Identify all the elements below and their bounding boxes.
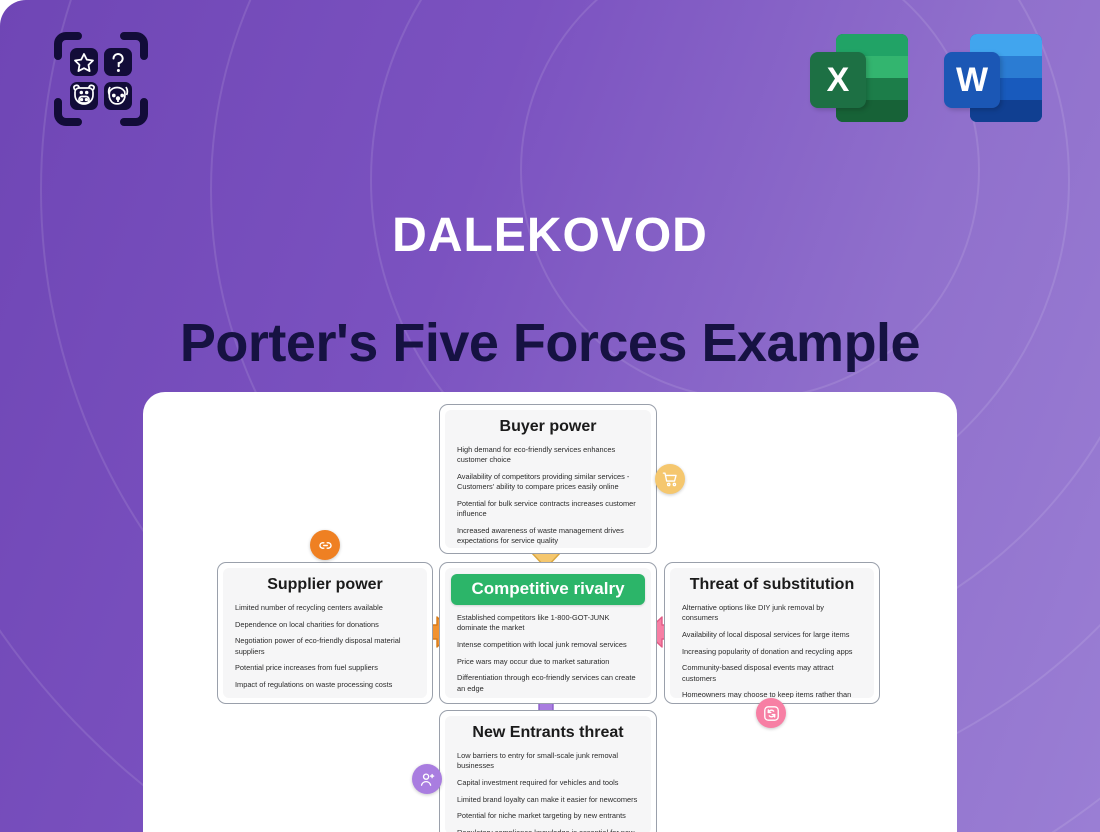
list-item: Increased awareness of waste management … bbox=[457, 526, 639, 546]
add-user-icon bbox=[412, 764, 442, 794]
excel-letter: X bbox=[810, 52, 866, 108]
export-format-icons: X W bbox=[810, 30, 1042, 122]
list-item: Potential for niche market targeting by … bbox=[457, 811, 639, 821]
excel-icon[interactable]: X bbox=[810, 30, 908, 122]
dog-icon bbox=[104, 82, 132, 110]
force-box-competitive-rivalry[interactable]: Competitive rivalry Established competit… bbox=[439, 562, 657, 704]
force-points-competitive-rivalry: Established competitors like 1-800-GOT-J… bbox=[457, 613, 639, 698]
list-item: Intense competition with local junk remo… bbox=[457, 640, 639, 650]
list-item: Potential for bulk service contracts inc… bbox=[457, 499, 639, 519]
porters-five-forces-diagram: Buyer power High demand for eco-friendly… bbox=[143, 392, 957, 832]
force-box-threat-of-substitution[interactable]: Threat of substitution Alternative optio… bbox=[664, 562, 880, 704]
force-points-threat-of-substitution: Alternative options like DIY junk remova… bbox=[682, 603, 862, 698]
list-item: Availability of local disposal services … bbox=[682, 630, 862, 640]
list-item: Alternative options like DIY junk remova… bbox=[682, 603, 862, 623]
force-points-buyer-power: High demand for eco-friendly services en… bbox=[457, 445, 639, 546]
list-item: Increasing popularity of donation and re… bbox=[682, 647, 862, 657]
refresh-icon bbox=[756, 698, 786, 728]
word-letter: W bbox=[944, 52, 1000, 108]
list-item: Limited number of recycling centers avai… bbox=[235, 603, 415, 613]
star-icon bbox=[70, 48, 98, 76]
shopping-cart-icon bbox=[655, 464, 685, 494]
content-card: Buyer power High demand for eco-friendly… bbox=[143, 392, 957, 832]
force-points-supplier-power: Limited number of recycling centers avai… bbox=[235, 603, 415, 690]
list-item: Potential price increases from fuel supp… bbox=[235, 663, 415, 673]
list-item: High demand for eco-friendly services en… bbox=[457, 445, 639, 465]
brand-name: DALEKOVOD bbox=[0, 208, 1100, 263]
word-icon[interactable]: W bbox=[944, 30, 1042, 122]
list-item: Capital investment required for vehicles… bbox=[457, 778, 639, 788]
list-item: Dependence on local charities for donati… bbox=[235, 620, 415, 630]
force-box-buyer-power[interactable]: Buyer power High demand for eco-friendly… bbox=[439, 404, 657, 554]
list-item: Established competitors like 1-800-GOT-J… bbox=[457, 613, 639, 633]
list-item: Community-based disposal events may attr… bbox=[682, 663, 862, 683]
brand-logo[interactable] bbox=[50, 28, 152, 130]
list-item: Low barriers to entry for small-scale ju… bbox=[457, 751, 639, 771]
list-item: Limited brand loyalty can make it easier… bbox=[457, 795, 639, 805]
list-item: Price wars may occur due to market satur… bbox=[457, 657, 639, 667]
link-icon bbox=[310, 530, 340, 560]
force-title-supplier-power: Supplier power bbox=[235, 576, 415, 594]
page-title: Porter's Five Forces Example bbox=[0, 312, 1100, 374]
force-title-competitive-rivalry: Competitive rivalry bbox=[451, 574, 645, 605]
force-title-new-entrants-threat: New Entrants threat bbox=[457, 724, 639, 742]
force-box-new-entrants-threat[interactable]: New Entrants threat Low barriers to entr… bbox=[439, 710, 657, 832]
force-box-supplier-power[interactable]: Supplier power Limited number of recycli… bbox=[217, 562, 433, 704]
list-item: Differentiation through eco-friendly ser… bbox=[457, 673, 639, 693]
slide-canvas: X W DALEKOVOD Porter's Five Forces Examp… bbox=[0, 0, 1100, 832]
list-item: Negotiation power of eco-friendly dispos… bbox=[235, 636, 415, 656]
force-title-buyer-power: Buyer power bbox=[457, 418, 639, 436]
list-item: Impact of regulations on waste processin… bbox=[235, 680, 415, 690]
list-item: Regulatory compliance knowledge is essen… bbox=[457, 828, 639, 832]
list-item: Availability of competitors providing si… bbox=[457, 472, 639, 492]
list-item: Homeowners may choose to keep items rath… bbox=[682, 690, 862, 698]
force-points-new-entrants-threat: Low barriers to entry for small-scale ju… bbox=[457, 751, 639, 832]
force-title-threat-of-substitution: Threat of substitution bbox=[682, 576, 862, 594]
